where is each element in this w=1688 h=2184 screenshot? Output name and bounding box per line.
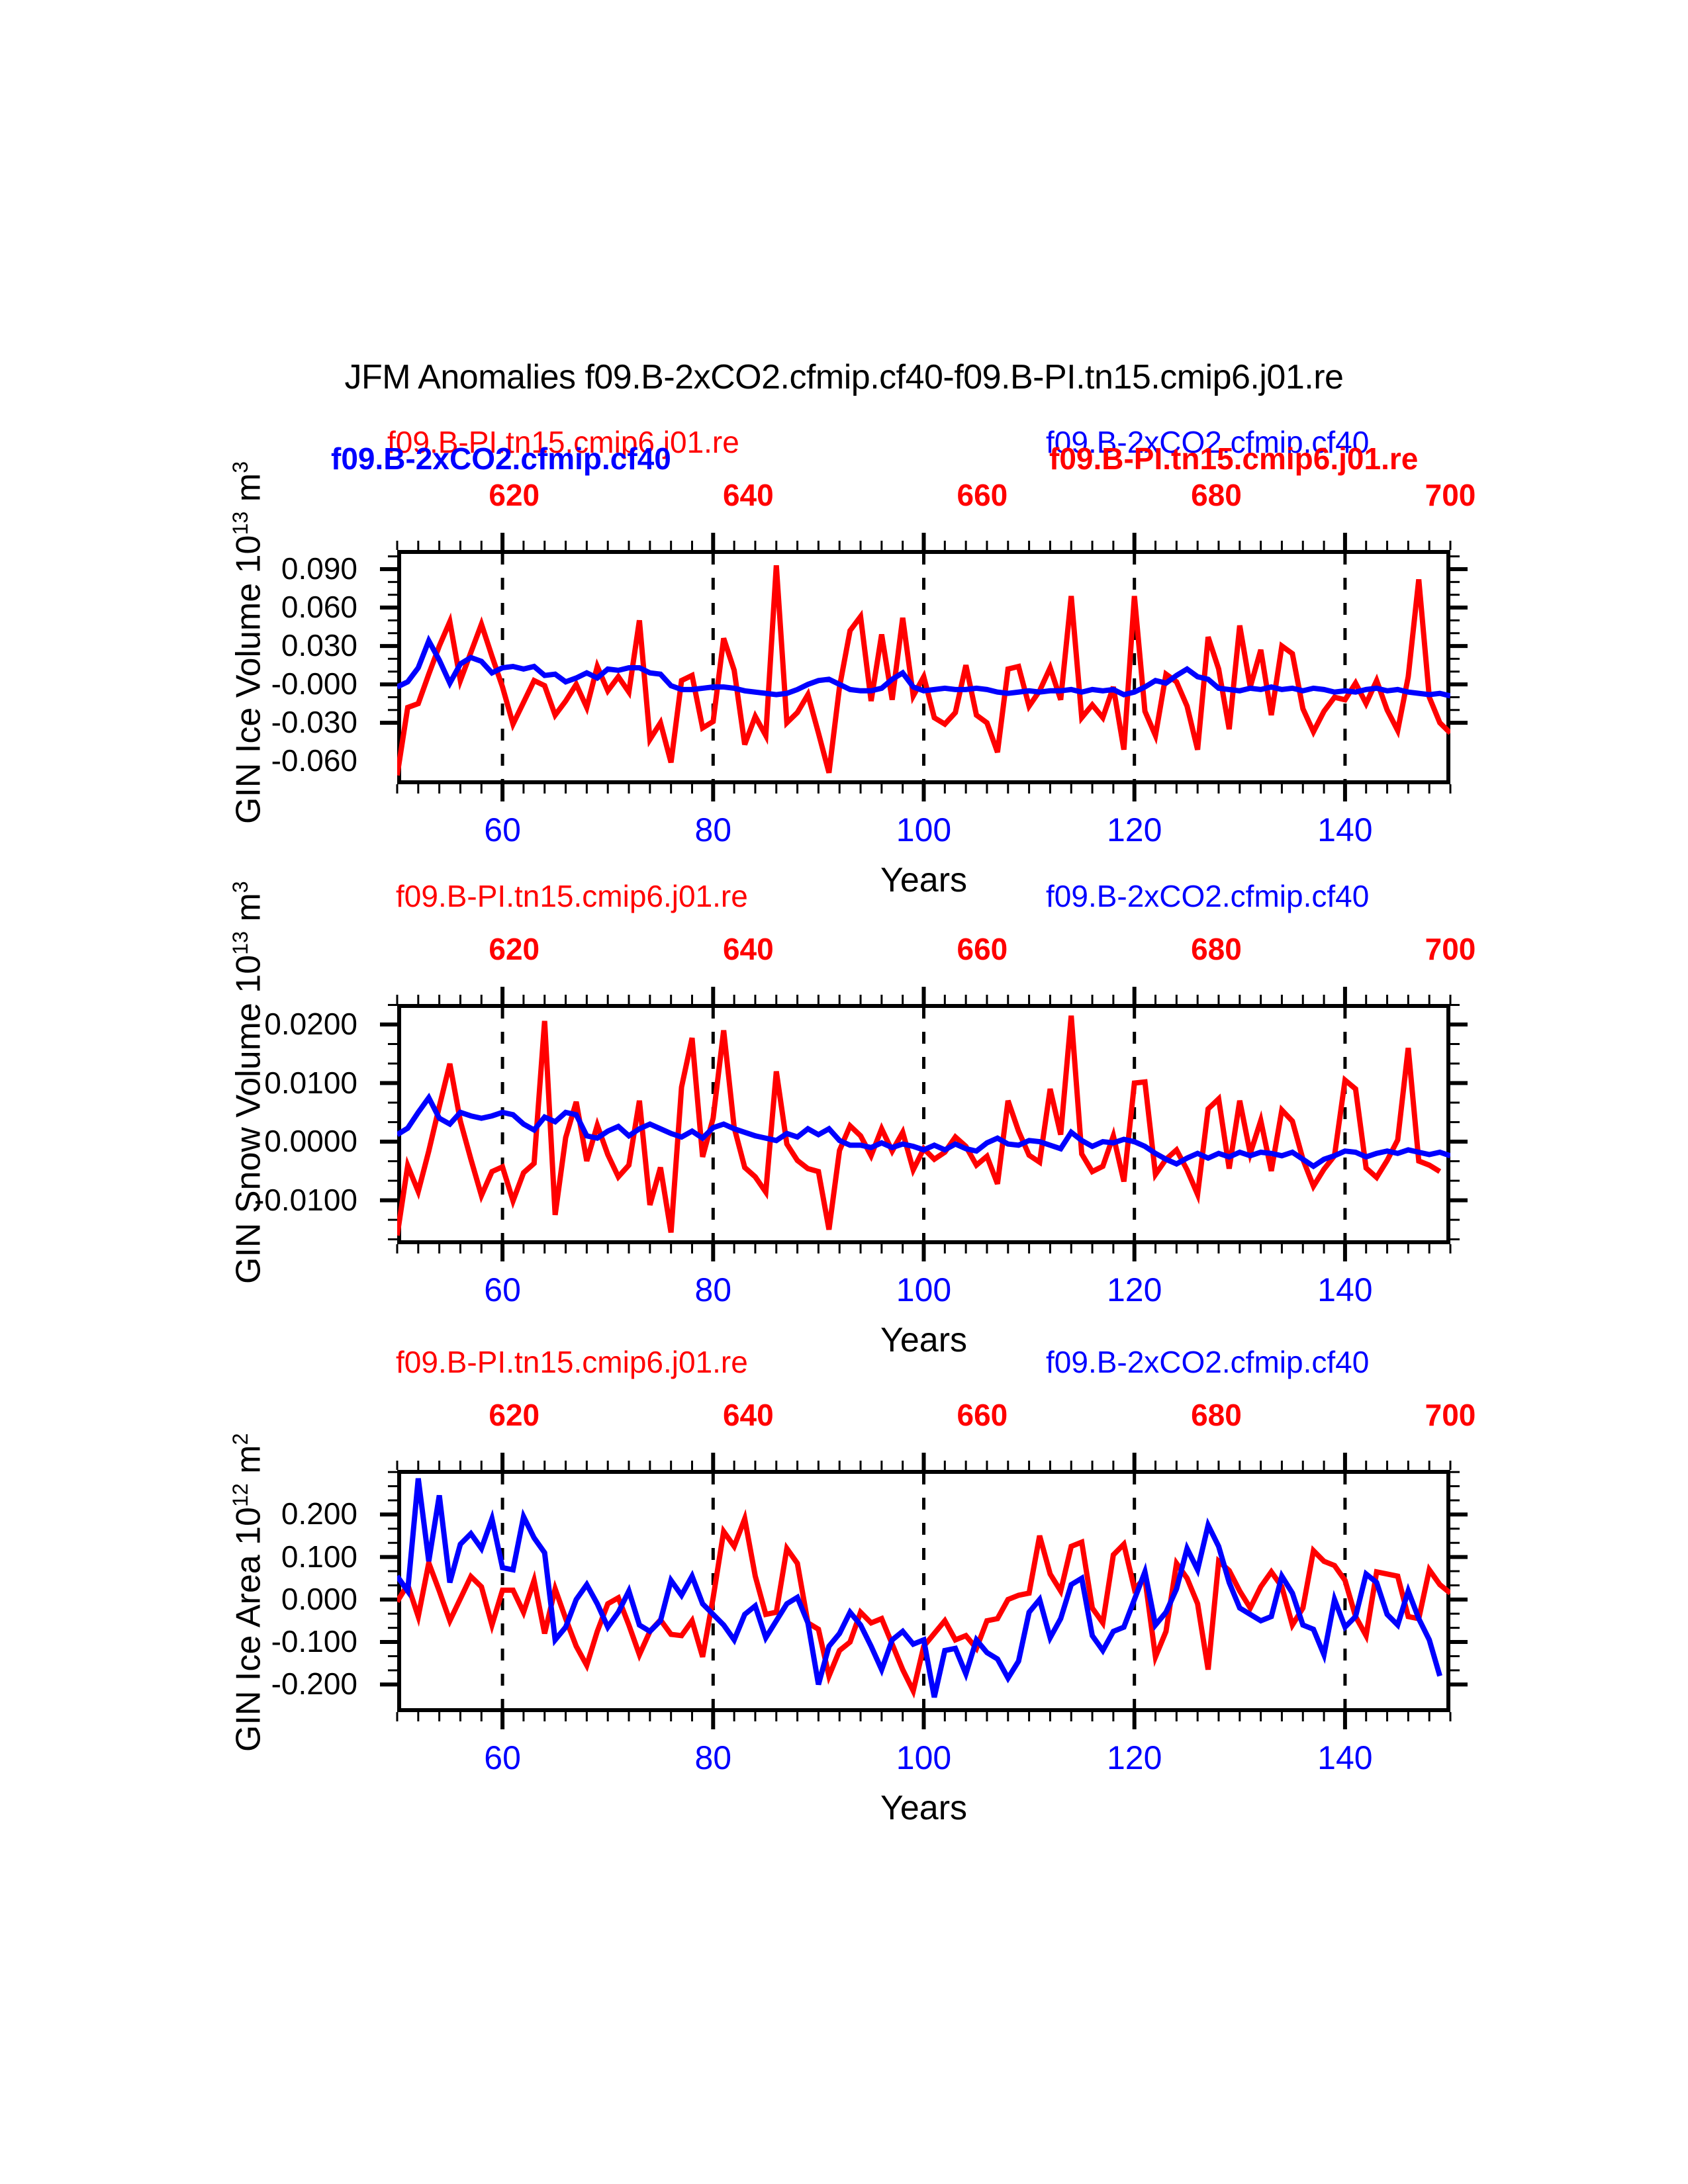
x-tick-label-bottom: 100 [858, 1739, 990, 1777]
x-tick-label-bottom: 80 [647, 1739, 779, 1777]
x-tick-label-bottom: 60 [436, 1739, 569, 1777]
x-tick-label-top: 660 [916, 1397, 1049, 1433]
x-tick-label-top: 640 [682, 1397, 814, 1433]
x-tick-label-bottom: 140 [1279, 1739, 1411, 1777]
figure-page: JFM Anomalies f09.B-2xCO2.cfmip.cf40-f09… [0, 0, 1688, 2184]
x-tick-label-top: 680 [1150, 1397, 1282, 1433]
y-axis-title-text: GIN Ice Area 10 [229, 1507, 267, 1752]
x-tick-label-bottom: 120 [1068, 1739, 1201, 1777]
y-axis-exponent: 12 [228, 1483, 252, 1507]
y-axis-unit-exponent: 2 [228, 1433, 252, 1445]
axis-ticks [0, 0, 1688, 2184]
x-axis-title: Years [265, 1788, 1583, 1828]
legend-left-red: f09.B-PI.tn15.cmip6.j01.re [396, 1344, 748, 1380]
y-axis-title: GIN Ice Area 1012 m2 [228, 1433, 268, 1752]
legend-right-blue: f09.B-2xCO2.cfmip.cf40 [1046, 1344, 1369, 1380]
x-tick-label-top: 700 [1384, 1397, 1517, 1433]
x-tick-label-top: 620 [448, 1397, 581, 1433]
